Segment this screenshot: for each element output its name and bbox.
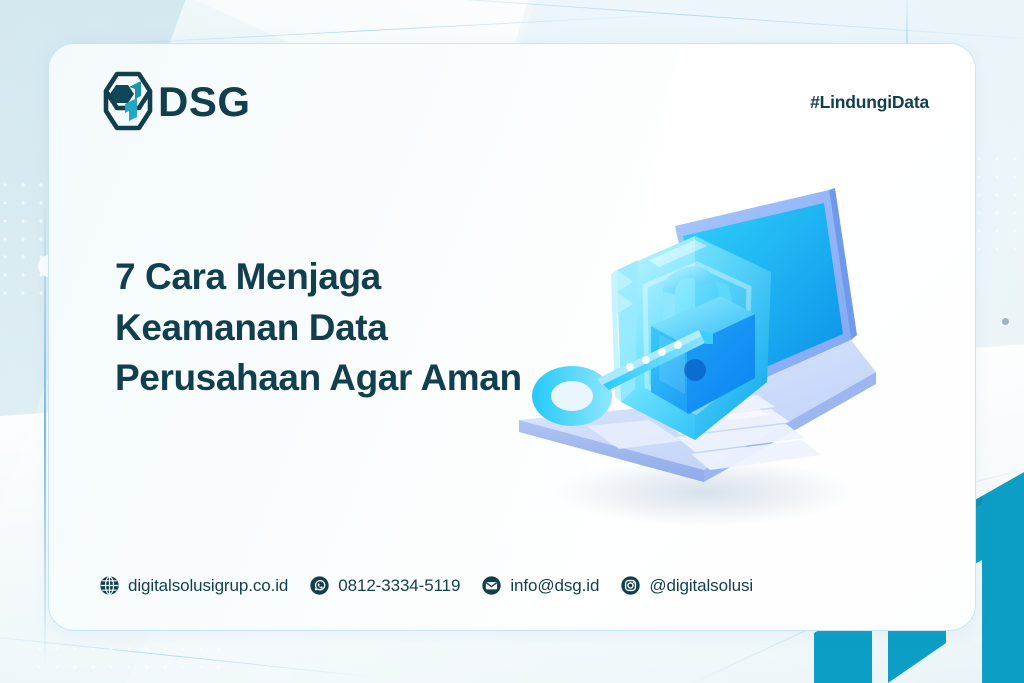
background-dot-grid: [30, 640, 220, 683]
laptop-shield-lock-key-illustration: [499, 174, 899, 544]
content-card: DSG #LindungiData 7 Cara Menjaga Keamana…: [48, 43, 976, 631]
brand-logo-text: DSG: [158, 81, 251, 123]
contact-instagram[interactable]: @digitalsolusi: [620, 575, 753, 596]
contact-website-label: digitalsolusigrup.co.id: [128, 576, 288, 596]
contact-whatsapp-label: 0812-3334-5119: [338, 576, 460, 596]
instagram-icon: [620, 575, 641, 596]
contact-website[interactable]: digitalsolusigrup.co.id: [99, 575, 288, 596]
brand-logo[interactable]: DSG: [96, 71, 251, 133]
background-dot: [1002, 318, 1009, 325]
email-icon: [481, 575, 502, 596]
contact-email[interactable]: info@dsg.id: [481, 575, 599, 596]
contact-whatsapp[interactable]: 0812-3334-5119: [309, 575, 460, 596]
contact-instagram-label: @digitalsolusi: [649, 576, 753, 596]
hexagon-cube-icon: [96, 71, 154, 133]
footer-contacts: digitalsolusigrup.co.id 0812-3334-5119 i…: [99, 575, 753, 596]
contact-email-label: info@dsg.id: [510, 576, 599, 596]
globe-icon: [99, 575, 120, 596]
page-title: 7 Cara Menjaga Keamanan Data Perusahaan …: [115, 252, 535, 404]
hashtag-label: #LindungiData: [810, 92, 929, 113]
whatsapp-icon: [309, 575, 330, 596]
